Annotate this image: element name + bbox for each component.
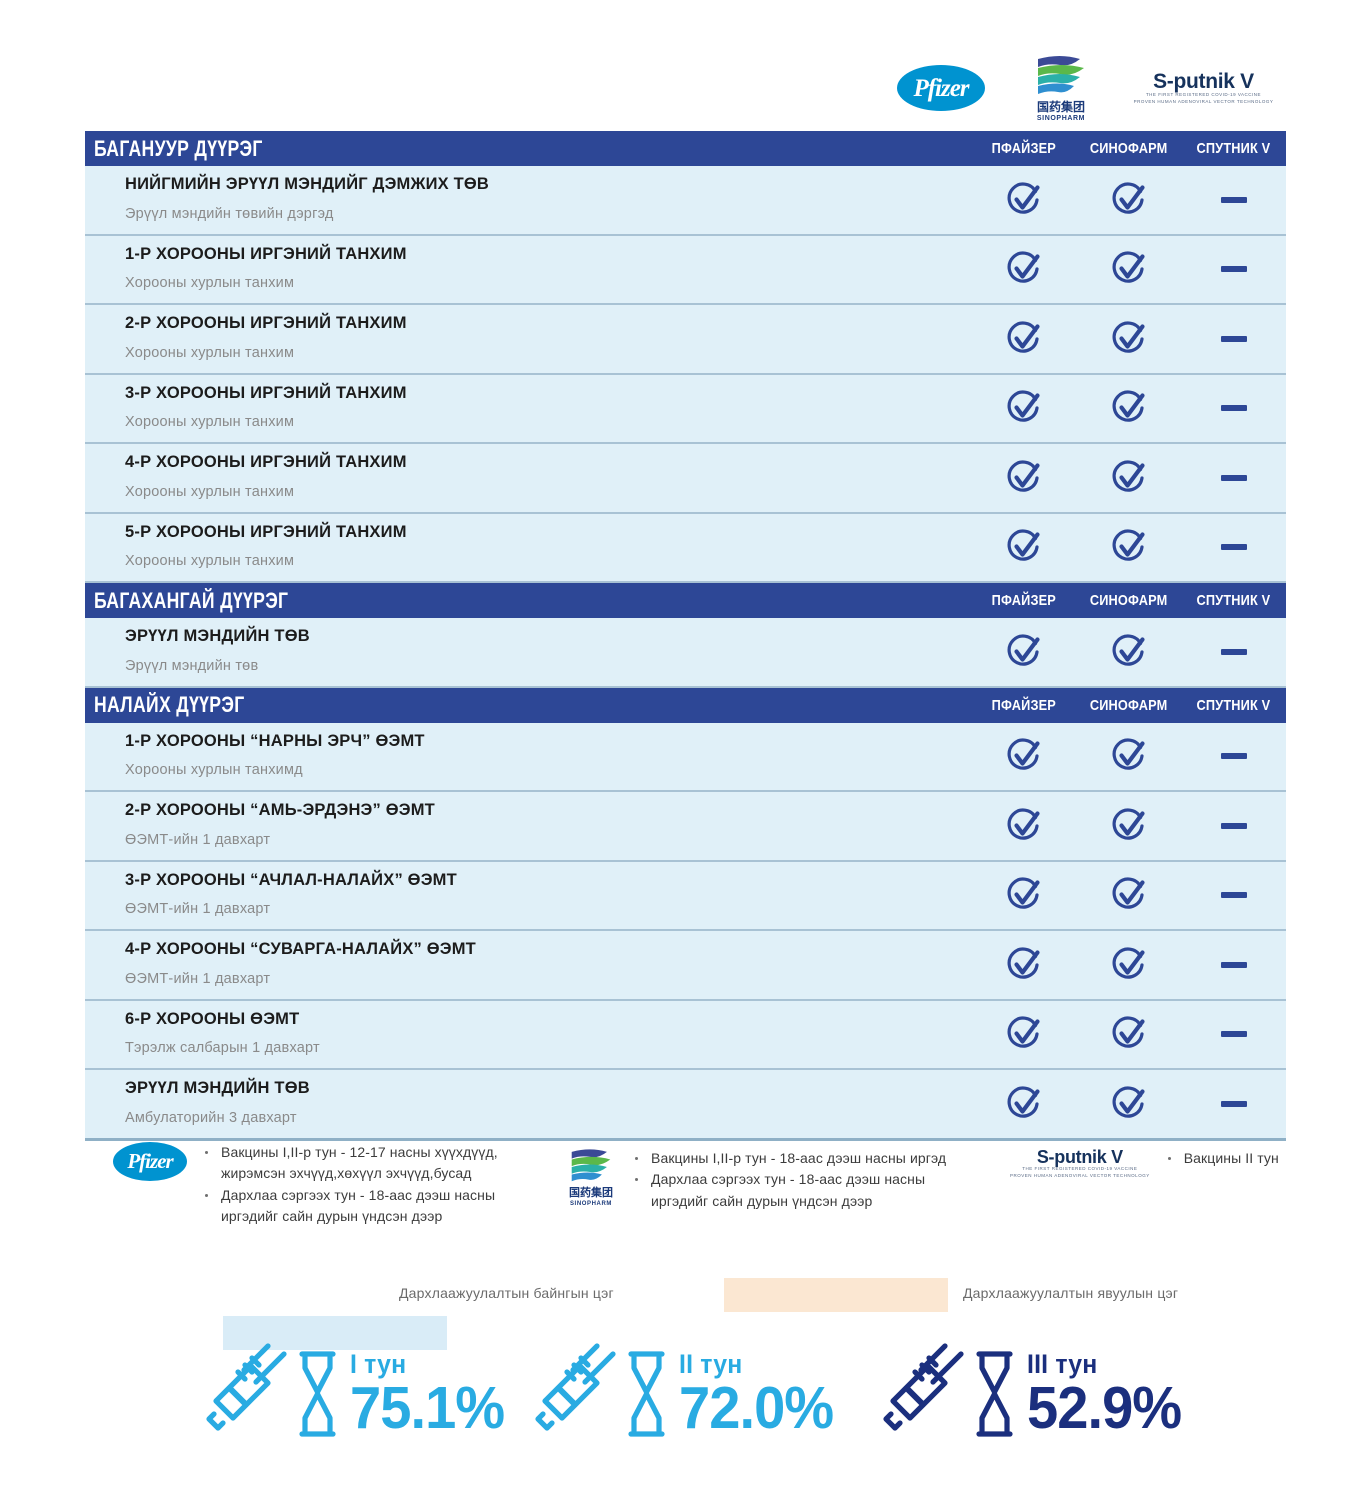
table-row: 1-Р ХОРООНЫ ИРГЭНИЙ ТАНХИМХорооны хурлын… [85, 236, 1286, 306]
unavailable-cell [1181, 405, 1286, 411]
site-location: Хорооны хурлын танхим [125, 482, 971, 504]
dose-label: II тун [679, 1351, 742, 1378]
table-row: 6-Р ХОРООНЫ ӨЭМТТэрэлж салбарын 1 давхар… [85, 1001, 1286, 1071]
availability-cells [971, 792, 1286, 860]
table-row: 5-Р ХОРООНЫ ИРГЭНИЙ ТАНХИМХорооны хурлын… [85, 514, 1286, 584]
check-circle-icon [1109, 458, 1149, 498]
check-circle-icon [1109, 806, 1149, 846]
unavailable-cell [1181, 962, 1286, 968]
brand-logo-strip: Pfizer 国药集团 SINOPHARM S-putnik V THE FIR… [85, 48, 1286, 128]
unavailable-cell [1181, 892, 1286, 898]
unavailable-cell [1181, 823, 1286, 829]
available-cell [971, 875, 1076, 915]
column-header-label: ПФАЙЗЕР [991, 592, 1055, 609]
legend-sinopharm-bullets: Вакцины I,II-р тун - 18-аас дээш насны и… [629, 1148, 985, 1212]
column-header-2: СИНОФАРМ [1076, 592, 1181, 609]
available-cell [1076, 632, 1181, 672]
sinopharm-logo: 国药集团 SINOPHARM [1001, 48, 1121, 128]
site-info: 5-Р ХОРООНЫ ИРГЭНИЙ ТАНХИМХорооны хурлын… [85, 514, 971, 582]
legend-bullet: Дархлаа сэргээх тун - 18-аас дээш насны … [199, 1185, 533, 1228]
section-title: НАЛАЙХ ДҮҮРЭГ [94, 692, 244, 718]
pfizer-logo-small: Pfizer [113, 1142, 187, 1181]
site-info: 2-Р ХОРООНЫ ИРГЭНИЙ ТАНХИМХорооны хурлын… [85, 305, 971, 373]
check-circle-icon [1004, 1084, 1044, 1124]
availability-cells [971, 514, 1286, 582]
site-location: Тэрэлж салбарын 1 давхарт [125, 1038, 971, 1060]
available-cell [1076, 180, 1181, 220]
availability-cells [971, 931, 1286, 999]
site-location: Хорооны хурлын танхим [125, 551, 971, 573]
sinopharm-cn-text-small: 国药集团 [569, 1188, 613, 1199]
check-circle-icon [1004, 875, 1044, 915]
site-info: 3-Р ХОРООНЫ ИРГЭНИЙ ТАНХИМХорооны хурлын… [85, 375, 971, 443]
dose-icons [527, 1335, 669, 1440]
check-circle-icon [1004, 458, 1044, 498]
dose-label: III тун [1027, 1351, 1098, 1378]
dash-icon [1221, 1101, 1247, 1107]
pfizer-wordmark: Pfizer [913, 76, 968, 101]
site-location: Хорооны хурлын танхимд [125, 760, 971, 782]
column-header-3: СПУТНИК V [1181, 697, 1286, 714]
dose-label: I тун [350, 1351, 406, 1378]
column-header-label: СПУТНИК V [1197, 697, 1271, 714]
check-circle-icon [1109, 736, 1149, 776]
vaccination-sites-table: БАГАНУУР ДҮҮРЭГПФАЙЗЕРСИНОФАРМСПУТНИК VН… [85, 131, 1286, 1141]
unavailable-cell [1181, 649, 1286, 655]
unavailable-cell [1181, 1101, 1286, 1107]
column-header-1: ПФАЙЗЕР [971, 697, 1076, 714]
site-name: 1-Р ХОРООНЫ “НАРНЫ ЭРЧ” ӨЭМТ [125, 729, 971, 754]
sputnik-tagline-1-small: THE FIRST REGISTERED COVID-19 VACCINE [1022, 1166, 1137, 1173]
dash-icon [1221, 753, 1247, 759]
site-info: 1-Р ХОРООНЫ ИРГЭНИЙ ТАНХИМХорооны хурлын… [85, 236, 971, 304]
available-cell [1076, 1084, 1181, 1124]
dose-percentage: 52.9% [1027, 1378, 1181, 1440]
legend-bullet: Вакцины I,II-р тун - 12-17 насны хүүхдүү… [199, 1142, 533, 1185]
dash-icon [1221, 649, 1247, 655]
check-circle-icon [1109, 1014, 1149, 1054]
site-info: НИЙГМИЙН ЭРҮҮЛ МЭНДИЙГ ДЭМЖИХ ТӨВЭрүүл м… [85, 166, 971, 234]
point-type-legend: Дархлаажуулалтын байнгын цэг Дархлаажуул… [0, 1280, 1369, 1340]
site-location: ӨЭМТ-ийн 1 давхарт [125, 830, 971, 852]
column-header-label: СПУТНИК V [1197, 592, 1271, 609]
legend-sputnik-bullets: Вакцины II тун [1162, 1148, 1279, 1169]
available-cell [1076, 875, 1181, 915]
column-header-3: СПУТНИК V [1181, 140, 1286, 157]
available-cell [1076, 388, 1181, 428]
available-cell [971, 1014, 1076, 1054]
dose-text: III тун52.9% [1027, 1351, 1189, 1440]
sputnik-v-logo: S-putnik V THE FIRST REGISTERED COVID-19… [1121, 48, 1286, 128]
sputnik-tagline-2: PROVEN HUMAN ADENOVIRAL VECTOR TECHNOLOG… [1134, 99, 1274, 106]
dash-icon [1221, 405, 1247, 411]
availability-cells [971, 1070, 1286, 1138]
site-info: 4-Р ХОРООНЫ “СУВАРГА-НАЛАЙХ” ӨЭМТӨЭМТ-ий… [85, 931, 971, 999]
available-cell [971, 945, 1076, 985]
available-cell [971, 388, 1076, 428]
check-circle-icon [1109, 1084, 1149, 1124]
unavailable-cell [1181, 753, 1286, 759]
legend-pfizer: Pfizer Вакцины I,II-р тун - 12-17 насны … [113, 1142, 533, 1227]
dash-icon [1221, 475, 1247, 481]
check-circle-icon [1109, 632, 1149, 672]
check-circle-icon [1109, 388, 1149, 428]
availability-cells [971, 305, 1286, 373]
dash-icon [1221, 962, 1247, 968]
vaccine-column-headers: ПФАЙЗЕРСИНОФАРМСПУТНИК V [971, 688, 1286, 723]
site-info: ЭРҮҮЛ МЭНДИЙН ТӨВАмбулаторийн 3 давхарт [85, 1070, 971, 1138]
column-header-label: СПУТНИК V [1197, 140, 1271, 157]
dash-icon [1221, 1031, 1247, 1037]
site-name: 4-Р ХОРООНЫ ИРГЭНИЙ ТАНХИМ [125, 450, 971, 475]
dose-percentage: 75.1% [350, 1378, 504, 1440]
dose-icons [198, 1335, 340, 1440]
check-circle-icon [1109, 527, 1149, 567]
sputnik-wordmark-small: S-putnik V [1037, 1148, 1123, 1166]
label-mobile-point: Дархлаажуулалтын явуулын цэг [963, 1285, 1178, 1301]
table-row: ЭРҮҮЛ МЭНДИЙН ТӨВАмбулаторийн 3 давхарт [85, 1070, 1286, 1141]
availability-cells [971, 236, 1286, 304]
available-cell [1076, 319, 1181, 359]
dash-icon [1221, 197, 1247, 203]
site-name: НИЙГМИЙН ЭРҮҮЛ МЭНДИЙГ ДЭМЖИХ ТӨВ [125, 172, 971, 197]
legend-bullet: Дархлаа сэргээх тун - 18-аас дээш насны … [629, 1169, 985, 1212]
check-circle-icon [1109, 319, 1149, 359]
site-name: ЭРҮҮЛ МЭНДИЙН ТӨВ [125, 1076, 971, 1101]
swatch-mobile-point [724, 1278, 948, 1312]
check-circle-icon [1004, 945, 1044, 985]
site-name: 3-Р ХОРООНЫ “АЧЛАЛ-НАЛАЙХ” ӨЭМТ [125, 868, 971, 893]
legend-sinopharm: 国药集团 SINOPHARM Вакцины I,II-р тун - 18-а… [565, 1148, 985, 1212]
sinopharm-en-text: SINOPHARM [1037, 115, 1085, 122]
hourglass-icon [972, 1348, 1017, 1440]
site-name: 5-Р ХОРООНЫ ИРГЭНИЙ ТАНХИМ [125, 520, 971, 545]
column-header-label: СИНОФАРМ [1090, 140, 1168, 157]
available-cell [1076, 806, 1181, 846]
syringe-icon [875, 1335, 970, 1440]
site-location: Хорооны хурлын танхим [125, 412, 971, 434]
vaccine-legend: Pfizer Вакцины I,II-р тун - 12-17 насны … [85, 1140, 1335, 1250]
column-header-2: СИНОФАРМ [1076, 697, 1181, 714]
sinopharm-ribbon-icon-small [565, 1148, 617, 1186]
available-cell [1076, 458, 1181, 498]
check-circle-icon [1004, 806, 1044, 846]
available-cell [971, 1084, 1076, 1124]
available-cell [971, 458, 1076, 498]
hourglass-icon [295, 1348, 340, 1440]
site-info: ЭРҮҮЛ МЭНДИЙН ТӨВЭрүүл мэндийн төв [85, 618, 971, 686]
availability-cells [971, 444, 1286, 512]
column-header-3: СПУТНИК V [1181, 592, 1286, 609]
table-row: 2-Р ХОРООНЫ ИРГЭНИЙ ТАНХИМХорооны хурлын… [85, 305, 1286, 375]
site-name: ЭРҮҮЛ МЭНДИЙН ТӨВ [125, 624, 971, 649]
site-info: 2-Р ХОРООНЫ “АМЬ-ЭРДЭНЭ” ӨЭМТӨЭМТ-ийн 1 … [85, 792, 971, 860]
available-cell [1076, 1014, 1181, 1054]
site-name: 3-Р ХОРООНЫ ИРГЭНИЙ ТАНХИМ [125, 381, 971, 406]
vaccine-column-headers: ПФАЙЗЕРСИНОФАРМСПУТНИК V [971, 131, 1286, 166]
check-circle-icon [1109, 249, 1149, 289]
label-permanent-point: Дархлаажуулалтын байнгын цэг [399, 1285, 614, 1301]
unavailable-cell [1181, 544, 1286, 550]
dose-text: II тун72.0% [679, 1351, 841, 1440]
site-name: 1-Р ХОРООНЫ ИРГЭНИЙ ТАНХИМ [125, 242, 971, 267]
availability-cells [971, 862, 1286, 930]
check-circle-icon [1109, 180, 1149, 220]
sputnik-logo-small: S-putnik V THE FIRST REGISTERED COVID-19… [1010, 1148, 1150, 1180]
site-location: Амбулаторийн 3 давхарт [125, 1108, 971, 1130]
check-circle-icon [1004, 632, 1044, 672]
available-cell [971, 632, 1076, 672]
available-cell [1076, 945, 1181, 985]
site-info: 4-Р ХОРООНЫ ИРГЭНИЙ ТАНХИМХорооны хурлын… [85, 444, 971, 512]
check-circle-icon [1004, 736, 1044, 776]
pfizer-wordmark-small: Pfizer [127, 1149, 172, 1174]
sinopharm-cn-text: 国药集团 [1037, 101, 1085, 113]
section-header-band: БАГАХАНГАЙ ДҮҮРЭГПФАЙЗЕРСИНОФАРМСПУТНИК … [85, 583, 1286, 618]
site-name: 6-Р ХОРООНЫ ӨЭМТ [125, 1007, 971, 1032]
site-info: 3-Р ХОРООНЫ “АЧЛАЛ-НАЛАЙХ” ӨЭМТӨЭМТ-ийн … [85, 862, 971, 930]
legend-bullet: Вакцины II тун [1162, 1148, 1279, 1169]
site-location: Эрүүл мэндийн төвийн дэргэд [125, 204, 971, 226]
column-header-label: СИНОФАРМ [1090, 592, 1168, 609]
available-cell [971, 180, 1076, 220]
table-row: 2-Р ХОРООНЫ “АМЬ-ЭРДЭНЭ” ӨЭМТӨЭМТ-ийн 1 … [85, 792, 1286, 862]
column-header-1: ПФАЙЗЕР [971, 592, 1076, 609]
site-location: Хорооны хурлын танхим [125, 273, 971, 295]
dash-icon [1221, 266, 1247, 272]
available-cell [971, 736, 1076, 776]
column-header-label: СИНОФАРМ [1090, 697, 1168, 714]
legend-pfizer-bullets: Вакцины I,II-р тун - 12-17 насны хүүхдүү… [199, 1142, 533, 1227]
availability-cells [971, 618, 1286, 686]
table-row: ЭРҮҮЛ МЭНДИЙН ТӨВЭрүүл мэндийн төв [85, 618, 1286, 688]
site-location: Эрүүл мэндийн төв [125, 656, 971, 678]
dose-stat-3: III тун52.9% [875, 1335, 1189, 1440]
sinopharm-en-text-small: SINOPHARM [570, 1201, 612, 1207]
site-name: 4-Р ХОРООНЫ “СУВАРГА-НАЛАЙХ” ӨЭМТ [125, 937, 971, 962]
site-info: 1-Р ХОРООНЫ “НАРНЫ ЭРЧ” ӨЭМТХорооны хурл… [85, 723, 971, 791]
available-cell [971, 806, 1076, 846]
site-info: 6-Р ХОРООНЫ ӨЭМТТэрэлж салбарын 1 давхар… [85, 1001, 971, 1069]
site-name: 2-Р ХОРООНЫ ИРГЭНИЙ ТАНХИМ [125, 311, 971, 336]
available-cell [971, 527, 1076, 567]
unavailable-cell [1181, 336, 1286, 342]
check-circle-icon [1004, 249, 1044, 289]
dash-icon [1221, 544, 1247, 550]
sputnik-wordmark: S-putnik V [1153, 71, 1254, 92]
dose-percentage: 72.0% [679, 1378, 833, 1440]
availability-cells [971, 375, 1286, 443]
dose-text: I тун75.1% [350, 1351, 512, 1440]
dose-stat-1: I тун75.1% [198, 1335, 512, 1440]
available-cell [1076, 249, 1181, 289]
dash-icon [1221, 823, 1247, 829]
sinopharm-ribbon-icon [1030, 55, 1092, 99]
syringe-icon [198, 1335, 293, 1440]
section-title: БАГАХАНГАЙ ДҮҮРЭГ [94, 588, 288, 614]
table-row: 4-Р ХОРООНЫ “СУВАРГА-НАЛАЙХ” ӨЭМТӨЭМТ-ий… [85, 931, 1286, 1001]
check-circle-icon [1004, 1014, 1044, 1054]
table-row: 4-Р ХОРООНЫ ИРГЭНИЙ ТАНХИМХорооны хурлын… [85, 444, 1286, 514]
dash-icon [1221, 892, 1247, 898]
available-cell [1076, 736, 1181, 776]
column-header-2: СИНОФАРМ [1076, 140, 1181, 157]
unavailable-cell [1181, 475, 1286, 481]
check-circle-icon [1004, 180, 1044, 220]
check-circle-icon [1004, 527, 1044, 567]
unavailable-cell [1181, 197, 1286, 203]
site-location: Хорооны хурлын танхим [125, 343, 971, 365]
legend-sputnik: S-putnik V THE FIRST REGISTERED COVID-19… [1010, 1148, 1340, 1180]
availability-cells [971, 166, 1286, 234]
available-cell [971, 319, 1076, 359]
check-circle-icon [1109, 875, 1149, 915]
table-row: НИЙГМИЙН ЭРҮҮЛ МЭНДИЙГ ДЭМЖИХ ТӨВЭрүүл м… [85, 166, 1286, 236]
availability-cells [971, 723, 1286, 791]
sinopharm-logo-small: 国药集团 SINOPHARM [565, 1148, 617, 1207]
column-header-label: ПФАЙЗЕР [991, 697, 1055, 714]
dose-coverage-stats: I тун75.1%II тун72.0%III тун52.9% [0, 1335, 1369, 1475]
table-row: 1-Р ХОРООНЫ “НАРНЫ ЭРЧ” ӨЭМТХорооны хурл… [85, 723, 1286, 793]
dose-stat-2: II тун72.0% [527, 1335, 841, 1440]
table-row: 3-Р ХОРООНЫ ИРГЭНИЙ ТАНХИМХорооны хурлын… [85, 375, 1286, 445]
site-location: ӨЭМТ-ийн 1 давхарт [125, 969, 971, 991]
table-row: 3-Р ХОРООНЫ “АЧЛАЛ-НАЛАЙХ” ӨЭМТӨЭМТ-ийн … [85, 862, 1286, 932]
column-header-1: ПФАЙЗЕР [971, 140, 1076, 157]
unavailable-cell [1181, 266, 1286, 272]
available-cell [1076, 527, 1181, 567]
check-circle-icon [1109, 945, 1149, 985]
check-circle-icon [1004, 388, 1044, 428]
section-header-band: НАЛАЙХ ДҮҮРЭГПФАЙЗЕРСИНОФАРМСПУТНИК V [85, 688, 1286, 723]
site-name: 2-Р ХОРООНЫ “АМЬ-ЭРДЭНЭ” ӨЭМТ [125, 798, 971, 823]
pfizer-logo: Pfizer [881, 48, 1001, 128]
vaccine-column-headers: ПФАЙЗЕРСИНОФАРМСПУТНИК V [971, 583, 1286, 618]
availability-cells [971, 1001, 1286, 1069]
column-header-label: ПФАЙЗЕР [991, 140, 1055, 157]
check-circle-icon [1004, 319, 1044, 359]
available-cell [971, 249, 1076, 289]
sputnik-tagline-2-small: PROVEN HUMAN ADENOVIRAL VECTOR TECHNOLOG… [1010, 1173, 1150, 1180]
dash-icon [1221, 336, 1247, 342]
legend-bullet: Вакцины I,II-р тун - 18-аас дээш насны и… [629, 1148, 985, 1169]
sputnik-tagline-1: THE FIRST REGISTERED COVID-19 VACCINE [1146, 92, 1261, 99]
dose-icons [875, 1335, 1017, 1440]
site-location: ӨЭМТ-ийн 1 давхарт [125, 899, 971, 921]
section-header-band: БАГАНУУР ДҮҮРЭГПФАЙЗЕРСИНОФАРМСПУТНИК V [85, 131, 1286, 166]
hourglass-icon [624, 1348, 669, 1440]
unavailable-cell [1181, 1031, 1286, 1037]
syringe-icon [527, 1335, 622, 1440]
section-title: БАГАНУУР ДҮҮРЭГ [94, 136, 263, 162]
pfizer-oval: Pfizer [897, 65, 985, 111]
